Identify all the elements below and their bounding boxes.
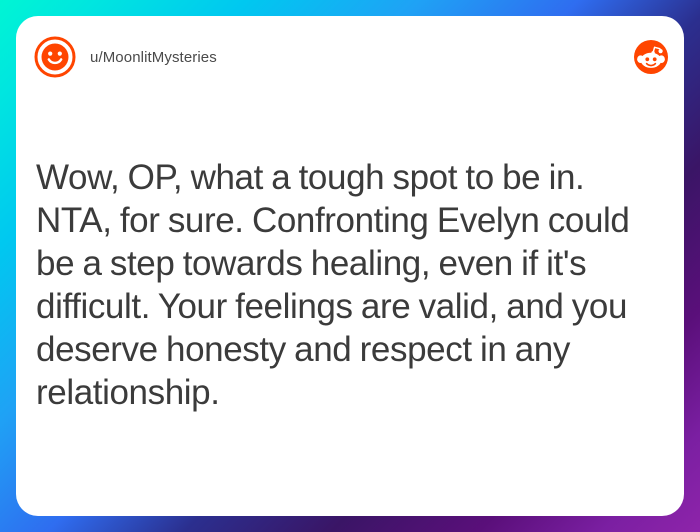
smiley-face-avatar-icon <box>34 36 76 78</box>
username-label[interactable]: u/MoonlitMysteries <box>90 49 217 66</box>
comment-text: Wow, OP, what a tough spot to be in. NTA… <box>36 156 666 414</box>
comment-header: u/MoonlitMysteries <box>16 16 684 98</box>
reddit-comment-card: u/MoonlitMysteries Wow, OP, what a tough… <box>16 16 684 516</box>
reddit-snoo-logo-icon <box>634 40 668 74</box>
